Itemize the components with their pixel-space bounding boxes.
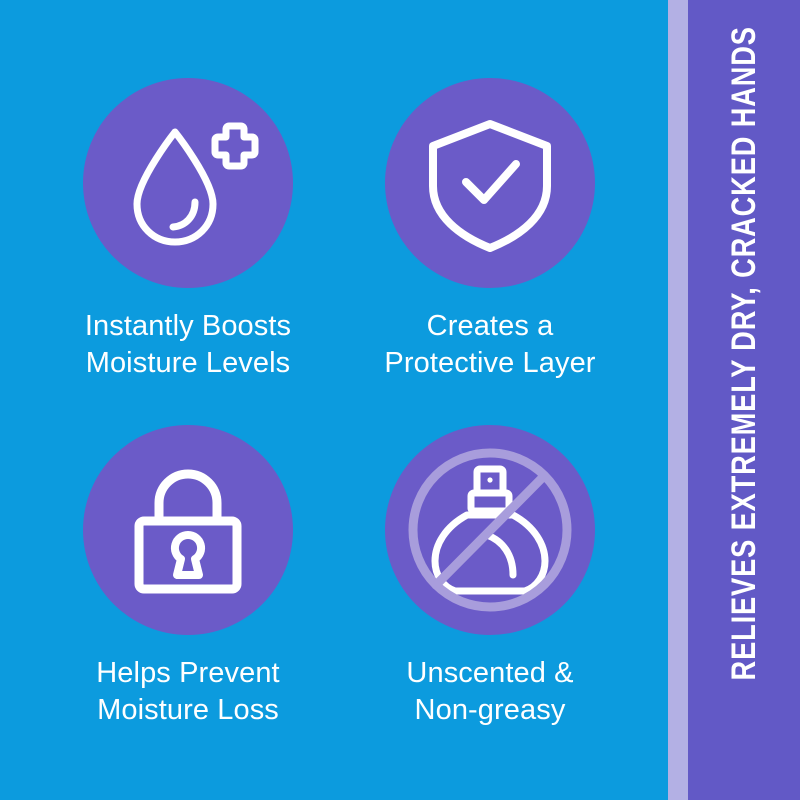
benefit-caption-line-1: Creates a: [384, 308, 595, 345]
benefit-caption: Instantly Boosts Moisture Levels: [85, 308, 291, 382]
vertical-banner-text: RELIEVES EXTREMELY DRY, CRACKED HANDS: [725, 26, 764, 680]
shield-check-icon: [415, 108, 565, 258]
accent-stripe: [668, 0, 688, 800]
benefit-caption: Creates a Protective Layer: [384, 308, 595, 382]
benefit-caption-line-2: Moisture Levels: [85, 345, 291, 382]
no-fragrance-icon: [405, 445, 575, 615]
water-drop-plus-icon: [113, 108, 263, 258]
benefit-caption-line-2: Non-greasy: [406, 692, 573, 729]
benefit-caption-line-1: Instantly Boosts: [85, 308, 291, 345]
icon-circle: [83, 78, 293, 288]
icon-circle: [385, 425, 595, 635]
padlock-icon: [113, 455, 263, 605]
product-benefits-infographic: Instantly Boosts Moisture Levels Creates…: [0, 0, 800, 800]
benefit-item-unscented-and-non-greasy: Unscented & Non-greasy: [350, 425, 630, 729]
benefit-caption-line-2: Moisture Loss: [96, 692, 279, 729]
vertical-banner-text-wrapper: RELIEVES EXTREMELY DRY, CRACKED HANDS: [688, 0, 800, 800]
benefit-caption: Helps Prevent Moisture Loss: [96, 655, 279, 729]
benefit-item-instantly-boosts-moisture-levels: Instantly Boosts Moisture Levels: [48, 78, 328, 382]
icon-circle: [83, 425, 293, 635]
icon-circle: [385, 78, 595, 288]
benefit-caption-line-1: Helps Prevent: [96, 655, 279, 692]
benefit-caption: Unscented & Non-greasy: [406, 655, 573, 729]
benefit-item-creates-a-protective-layer: Creates a Protective Layer: [350, 78, 630, 382]
benefit-caption-line-1: Unscented &: [406, 655, 573, 692]
benefit-caption-line-2: Protective Layer: [384, 345, 595, 382]
benefit-item-helps-prevent-moisture-loss: Helps Prevent Moisture Loss: [48, 425, 328, 729]
benefits-grid: Instantly Boosts Moisture Levels Creates…: [0, 0, 668, 800]
